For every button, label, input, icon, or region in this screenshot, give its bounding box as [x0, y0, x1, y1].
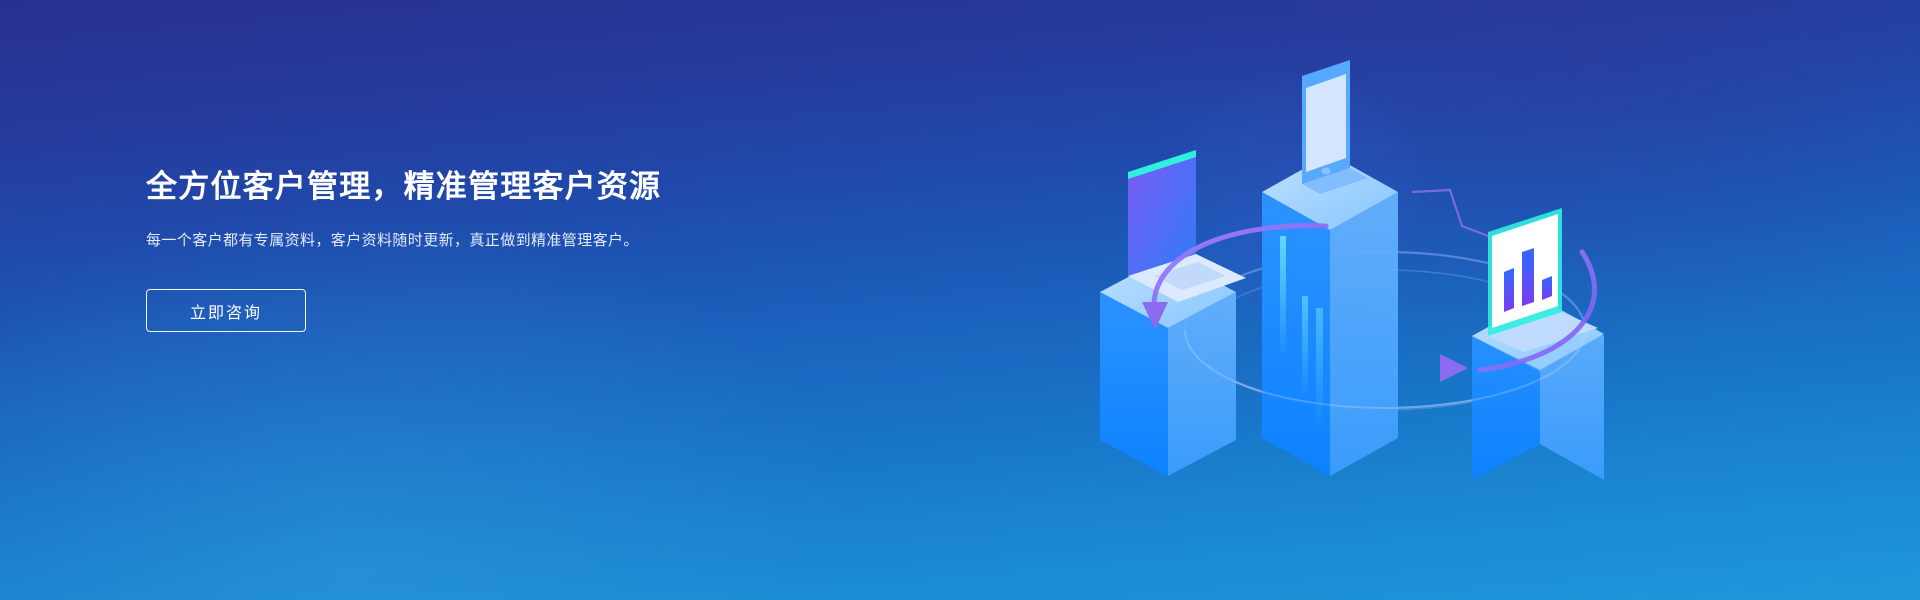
pillar-right: [1472, 208, 1604, 480]
light-streak: [1302, 296, 1308, 400]
bar-2: [1522, 248, 1534, 306]
page-title: 全方位客户管理，精准管理客户资源: [146, 168, 846, 207]
tablet-icon: [1302, 60, 1368, 194]
isometric-illustration: [1150, 40, 1610, 480]
pillar-left: [1100, 150, 1246, 476]
laptop-icon: [1128, 150, 1246, 302]
hero-subtitle: 每一个客户都有专属资料，客户资料随时更新，真正做到精准管理客户。: [146, 229, 742, 253]
light-streak: [1316, 308, 1323, 428]
light-streak: [1280, 236, 1286, 356]
bar-3: [1542, 276, 1552, 300]
hero-banner: 全方位客户管理，精准管理客户资源 每一个客户都有专属资料，客户资料随时更新，真正…: [0, 0, 1920, 600]
consult-now-button[interactable]: 立即咨询: [146, 289, 306, 332]
hero-copy-block: 全方位客户管理，精准管理客户资源 每一个客户都有专属资料，客户资料随时更新，真正…: [146, 168, 846, 332]
pillar-center: [1262, 60, 1398, 478]
bar-1: [1504, 268, 1514, 312]
monitor-chart-icon: [1488, 208, 1598, 352]
